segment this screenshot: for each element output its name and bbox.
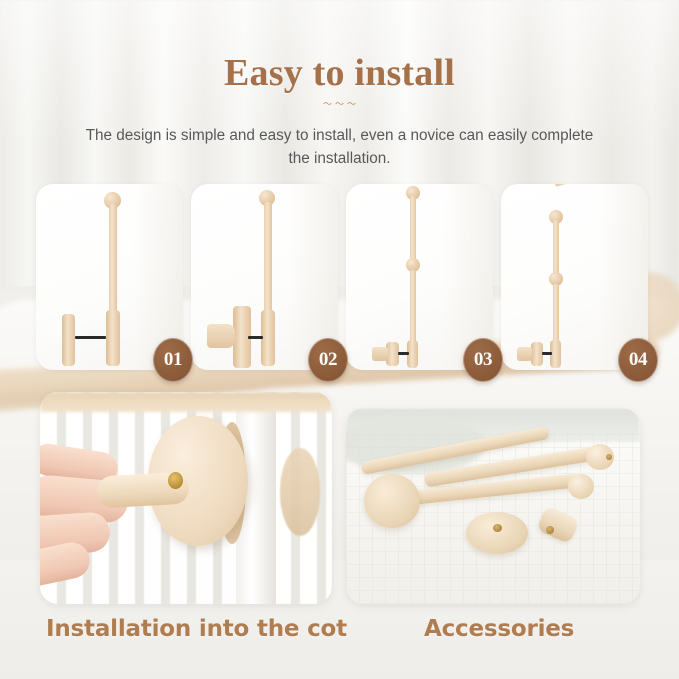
caption-accessories: Accessories xyxy=(424,616,574,642)
accessory-ball-mid xyxy=(568,474,594,499)
step-number: 03 xyxy=(474,349,492,371)
step-badge-04: 04 xyxy=(618,338,658,382)
background-wood-piece xyxy=(280,448,320,536)
step-number: 01 xyxy=(164,349,182,371)
step-badge-03: 03 xyxy=(463,338,503,382)
brass-screw-icon xyxy=(168,472,183,489)
accessories-photo-icon xyxy=(346,408,640,604)
hand-install-photo-icon xyxy=(40,392,332,604)
tilde-icon: 〜 xyxy=(335,101,344,110)
caption-installation: Installation into the cot xyxy=(46,616,347,642)
tilde-icon: 〜 xyxy=(347,101,356,110)
title-divider-ornament: 〜 〜 〜 xyxy=(0,101,679,110)
cot-top-rail xyxy=(40,392,332,412)
infographic-stage: Easy to install 〜 〜 〜 The design is simp… xyxy=(0,0,679,679)
step-card-03: 03 xyxy=(346,184,493,370)
bottom-photo-row xyxy=(40,392,640,604)
step-card-row: 01 02 xyxy=(36,184,648,370)
page-subtitle: The design is simple and easy to install… xyxy=(75,124,605,170)
step-badge-01: 01 xyxy=(153,338,193,382)
step-card-04: 04 xyxy=(501,184,648,370)
step-card-01: 01 xyxy=(36,184,183,370)
tilde-icon: 〜 xyxy=(323,101,332,110)
header: Easy to install 〜 〜 〜 The design is simp… xyxy=(0,0,679,170)
accessory-disc-large xyxy=(364,474,420,528)
step-number: 02 xyxy=(319,349,337,371)
accessory-base-screw-icon xyxy=(493,524,502,532)
accessory-ball-hole xyxy=(606,454,612,460)
page-title: Easy to install xyxy=(0,54,679,92)
step-number: 04 xyxy=(629,349,647,371)
accessory-knob-screw-icon xyxy=(546,526,554,534)
step-badge-02: 02 xyxy=(308,338,348,382)
accessory-base-disc xyxy=(466,512,528,554)
step-card-02: 02 xyxy=(191,184,338,370)
